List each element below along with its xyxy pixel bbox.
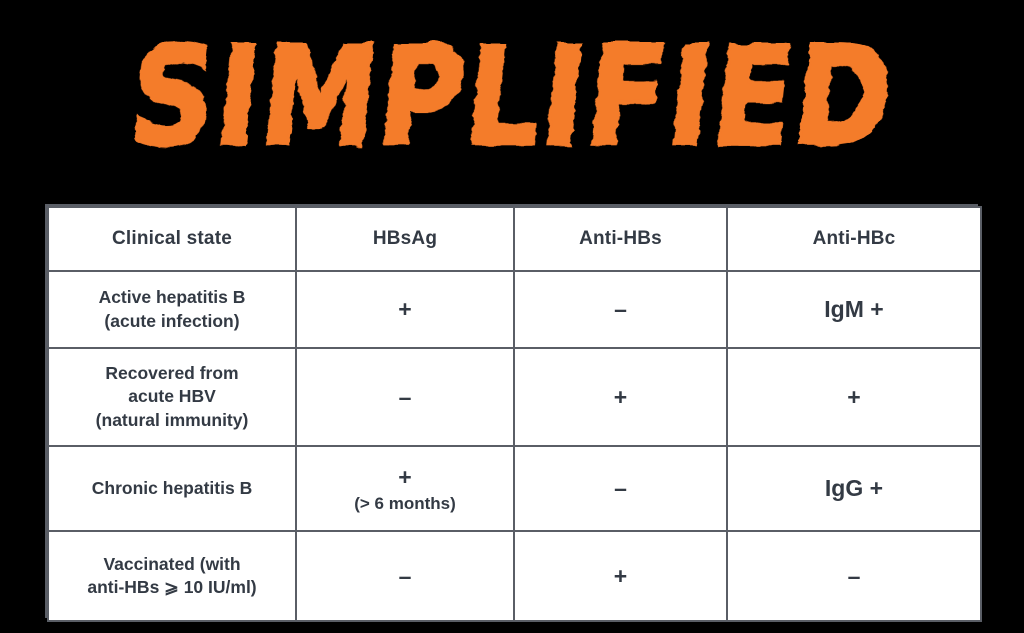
- hbsag-value-cell: +: [296, 271, 514, 348]
- hbsag-value-cell: –: [296, 348, 514, 446]
- page-title-banner: SIMPLIFIED: [0, 18, 1024, 178]
- state-line: Recovered from: [105, 363, 238, 383]
- marker-symbol: –: [519, 295, 722, 324]
- anti-hbs-value-cell: –: [514, 446, 727, 531]
- column-header-clinical-state: Clinical state: [48, 207, 296, 271]
- hbsag-value-cell: –: [296, 531, 514, 621]
- column-header-anti-hbc: Anti-HBc: [727, 207, 981, 271]
- clinical-state-cell: Recovered from acute HBV (natural immuni…: [48, 348, 296, 446]
- anti-hbc-value-cell: –: [727, 531, 981, 621]
- state-line: (acute infection): [104, 311, 239, 331]
- table-row: Active hepatitis B (acute infection) + –…: [48, 271, 981, 348]
- clinical-state-cell: Active hepatitis B (acute infection): [48, 271, 296, 348]
- clinical-state-cell: Vaccinated (with anti-HBs ⩾ 10 IU/ml): [48, 531, 296, 621]
- marker-symbol: +: [519, 562, 722, 591]
- state-line: Active hepatitis B: [99, 287, 246, 307]
- anti-hbc-value-cell: IgG +: [727, 446, 981, 531]
- table-row: Recovered from acute HBV (natural immuni…: [48, 348, 981, 446]
- table-row: Chronic hepatitis B + (> 6 months) – IgG…: [48, 446, 981, 531]
- state-line: (natural immunity): [96, 410, 249, 430]
- marker-symbol: –: [301, 562, 509, 591]
- anti-hbs-value-cell: +: [514, 348, 727, 446]
- hbsag-value-cell: + (> 6 months): [296, 446, 514, 531]
- state-line: Vaccinated (with: [103, 554, 240, 574]
- anti-hbc-value-cell: +: [727, 348, 981, 446]
- state-line: Chronic hepatitis B: [92, 478, 252, 498]
- marker-symbol: –: [732, 562, 976, 591]
- serology-table: Clinical state HBsAg Anti-HBs Anti-HBc A…: [47, 206, 982, 622]
- marker-symbol: +: [732, 383, 976, 412]
- table-row: Vaccinated (with anti-HBs ⩾ 10 IU/ml) – …: [48, 531, 981, 621]
- anti-hbs-value-cell: –: [514, 271, 727, 348]
- anti-hbs-value-cell: +: [514, 531, 727, 621]
- table-header-row: Clinical state HBsAg Anti-HBs Anti-HBc: [48, 207, 981, 271]
- column-header-hbsag: HBsAg: [296, 207, 514, 271]
- marker-note: (> 6 months): [301, 493, 509, 514]
- marker-symbol: +: [519, 383, 722, 412]
- anti-hbc-value-cell: IgM +: [727, 271, 981, 348]
- page-title: SIMPLIFIED: [124, 30, 901, 167]
- marker-symbol: –: [519, 474, 722, 503]
- marker-symbol: +: [301, 463, 509, 492]
- marker-symbol: +: [301, 295, 509, 324]
- state-line: anti-HBs ⩾ 10 IU/ml): [87, 577, 256, 597]
- marker-symbol: IgM +: [732, 295, 976, 324]
- serology-table-container: Clinical state HBsAg Anti-HBs Anti-HBc A…: [45, 204, 978, 618]
- marker-symbol: –: [301, 383, 509, 412]
- clinical-state-cell: Chronic hepatitis B: [48, 446, 296, 531]
- column-header-anti-hbs: Anti-HBs: [514, 207, 727, 271]
- marker-symbol: IgG +: [732, 474, 976, 503]
- state-line: acute HBV: [128, 386, 216, 406]
